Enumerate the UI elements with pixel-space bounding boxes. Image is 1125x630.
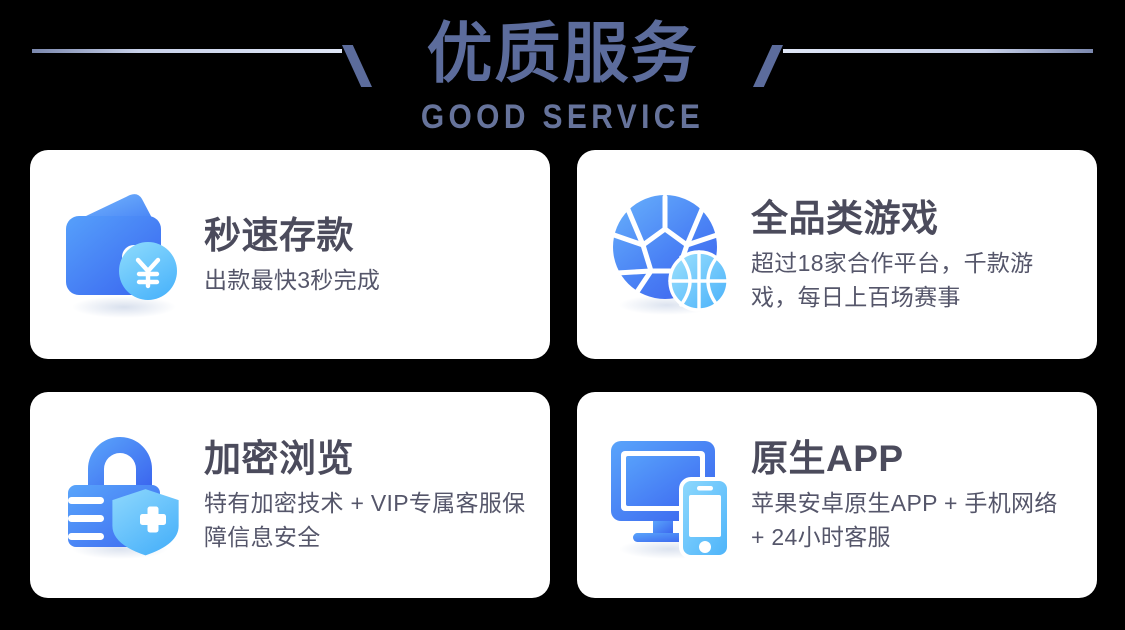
service-card-encryption[interactable]: 加密浏览 特有加密技术 + VIP专属客服保障信息安全 [30, 392, 550, 598]
service-card-grid: 秒速存款 出款最快3秒完成 [0, 150, 1125, 598]
card-title: 全品类游戏 [751, 196, 1075, 242]
card-title: 原生APP [751, 436, 1075, 482]
soccer-basketball-icon [603, 185, 743, 325]
card-text-block: 原生APP 苹果安卓原生APP + 手机网络 + 24小时客服 [751, 436, 1075, 554]
service-card-games[interactable]: 全品类游戏 超过18家合作平台，千款游戏，每日上百场赛事 [577, 150, 1097, 359]
card-text-block: 全品类游戏 超过18家合作平台，千款游戏，每日上百场赛事 [751, 196, 1075, 314]
service-card-deposit[interactable]: 秒速存款 出款最快3秒完成 [30, 150, 550, 359]
card-title: 加密浏览 [204, 436, 528, 482]
header-rule-right [783, 49, 1093, 53]
monitor-phone-icon [603, 425, 743, 565]
service-card-native-app[interactable]: 原生APP 苹果安卓原生APP + 手机网络 + 24小时客服 [577, 392, 1097, 598]
card-title: 秒速存款 [204, 213, 528, 259]
card-description: 出款最快3秒完成 [204, 263, 528, 297]
page-title: 优质服务 [0, 14, 1125, 92]
lock-shield-icon [56, 425, 196, 565]
card-description: 苹果安卓原生APP + 手机网络 + 24小时客服 [751, 486, 1075, 554]
page-header: 优质服务 GOOD SERVICE [0, 0, 1125, 150]
wallet-yen-icon [56, 185, 196, 325]
card-text-block: 加密浏览 特有加密技术 + VIP专属客服保障信息安全 [204, 436, 528, 554]
card-description: 超过18家合作平台，千款游戏，每日上百场赛事 [751, 246, 1075, 314]
card-description: 特有加密技术 + VIP专属客服保障信息安全 [204, 486, 528, 554]
card-text-block: 秒速存款 出款最快3秒完成 [204, 213, 528, 297]
page-subtitle: GOOD SERVICE [68, 98, 1058, 136]
